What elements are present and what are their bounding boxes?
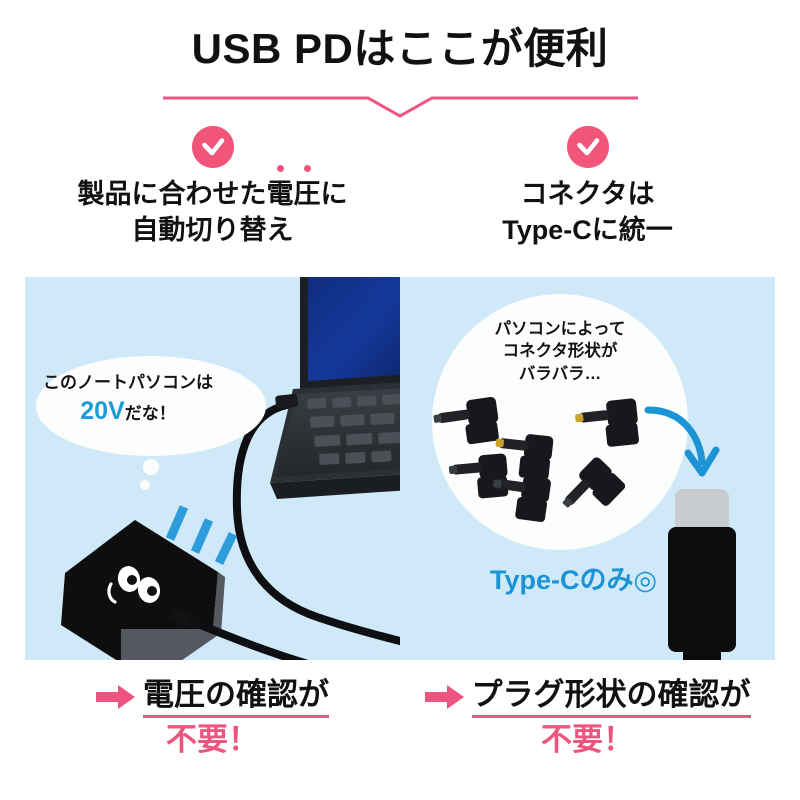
check-circle-icon <box>192 126 234 168</box>
caption-right-sub: 不要！ <box>400 723 775 757</box>
heading-left-line1-post: に <box>321 179 348 209</box>
speech-bubble-left-text: このノートパソコンは 20Vだな！ <box>30 372 226 429</box>
typec-only-label: Type-Cのみ◎ <box>490 558 657 597</box>
column-left-heading: 製品に合わせた電圧に 自動切り替え <box>25 126 400 249</box>
caption-left-main: 電圧の確認が <box>143 676 329 718</box>
usb-type-c-connector <box>668 489 736 660</box>
caption-left: 電圧の確認が 不要！ <box>25 676 400 757</box>
laptop-lid <box>300 277 400 389</box>
title-block: USB PDはここが便利 <box>0 26 800 72</box>
check-circle-icon <box>567 126 609 168</box>
column-left-heading-text: 製品に合わせた電圧に 自動切り替え <box>25 176 400 249</box>
caption-left-sub: 不要！ <box>25 723 400 757</box>
heading-left-line1-emph: 電圧 <box>267 179 321 209</box>
arrow-right-icon <box>425 684 465 710</box>
laptop-and-ac-adapter-illustration <box>25 277 400 660</box>
bubble-left-line1: このノートパソコンは <box>30 372 226 395</box>
caption-right-main: プラグ形状の確認が <box>472 676 751 718</box>
bubble-left-voltage: 20V <box>80 397 124 425</box>
emphasis-dots-icon <box>267 165 321 172</box>
column-right-heading: コネクタは Type-Cに統一 <box>400 126 775 249</box>
bubble-right-line3: バラバラ… <box>460 363 660 385</box>
heading-left-line1-pre: 製品に合わせた <box>78 179 267 209</box>
illustration-panel-left <box>25 277 400 660</box>
bubble-right-line1: パソコンによって <box>460 318 660 340</box>
heading-left-emphasis: 電圧 <box>267 176 321 212</box>
arrow-right-icon <box>96 684 136 710</box>
bubble-left-line2-tail: だな！ <box>125 404 176 423</box>
bubble-right-line2: コネクタ形状が <box>460 340 660 362</box>
heading-right-line1: コネクタは <box>400 176 775 212</box>
column-right-heading-text: コネクタは Type-Cに統一 <box>400 176 775 249</box>
title-underline-rule <box>163 92 638 118</box>
page-title: USB PDはここが便利 <box>0 26 800 72</box>
caption-right: プラグ形状の確認が 不要！ <box>400 676 775 757</box>
heading-left-line2: 自動切り替え <box>25 212 400 248</box>
speech-bubble-right-text: パソコンによって コネクタ形状が バラバラ… <box>460 318 660 385</box>
heading-right-line2: Type-Cに統一 <box>400 212 775 248</box>
